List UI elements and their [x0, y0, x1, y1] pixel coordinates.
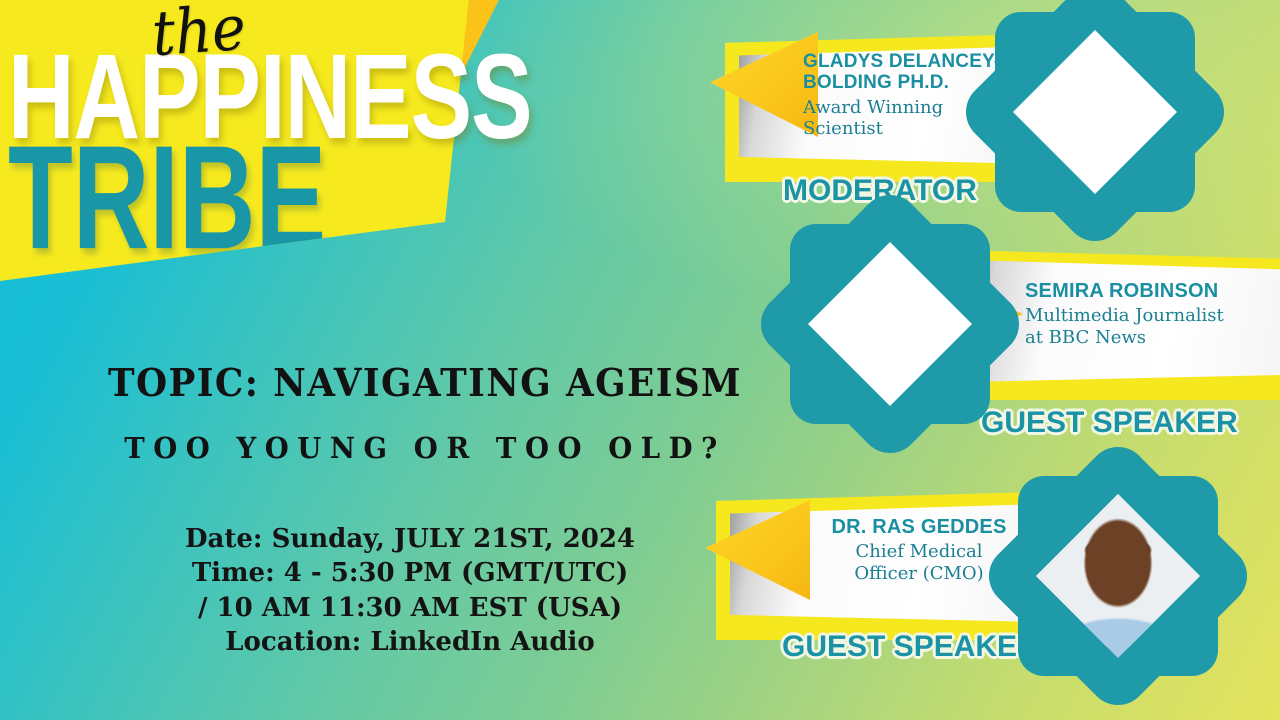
- speaker-name-line1: GLADYS DELANCEY-: [803, 51, 1018, 72]
- logo-text-group: HAPPINESS the: [0, 0, 500, 300]
- event-date: Date: Sunday, JULY 21ST, 2024: [60, 522, 760, 556]
- speaker-title-line2: at BBC News: [1025, 327, 1280, 349]
- event-details: Date: Sunday, JULY 21ST, 2024 Time: 4 - …: [60, 522, 760, 659]
- topic-subheadline: TOO YOUNG OR TOO OLD?: [78, 431, 772, 465]
- role-badge-ras: GUEST SPEAKER: [782, 630, 1039, 664]
- speaker-info-semira: SEMIRA ROBINSON Multimedia Journalist at…: [1025, 280, 1280, 349]
- topic-headline: TOPIC: NAVIGATING AGEISM: [82, 360, 768, 405]
- avatar-ras: [1018, 476, 1218, 676]
- avatar-moderator: [995, 12, 1195, 212]
- event-time-gmt: Time: 4 - 5:30 PM (GMT/UTC): [60, 556, 760, 590]
- topic-block: TOPIC: NAVIGATING AGEISM TOO YOUNG OR TO…: [60, 360, 790, 465]
- brand-logo: TRIBE HAPPINESS the: [0, 0, 500, 300]
- speaker-card-semira: SEMIRA ROBINSON Multimedia Journalist at…: [785, 228, 1280, 448]
- speaker-name-line1: SEMIRA ROBINSON: [1025, 280, 1280, 302]
- role-badge-semira: GUEST SPEAKER: [981, 406, 1238, 440]
- logo-script-the: the: [150, 0, 248, 70]
- speaker-card-ras: DR. RAS GEDDES Chief Medical Officer (CM…: [700, 478, 1230, 688]
- avatar-semira: [790, 224, 990, 424]
- event-location: Location: LinkedIn Audio: [60, 625, 760, 659]
- speaker-card-moderator: GLADYS DELANCEY- BOLDING PH.D. Award Win…: [705, 18, 1225, 233]
- speaker-name-line1: DR. RAS GEDDES: [804, 516, 1034, 538]
- speaker-title-line1: Multimedia Journalist: [1025, 305, 1280, 327]
- event-time-est: / 10 AM 11:30 AM EST (USA): [60, 591, 760, 625]
- poster-canvas: TRIBE HAPPINESS the TOPIC: NAVIGATING AG…: [0, 0, 1280, 720]
